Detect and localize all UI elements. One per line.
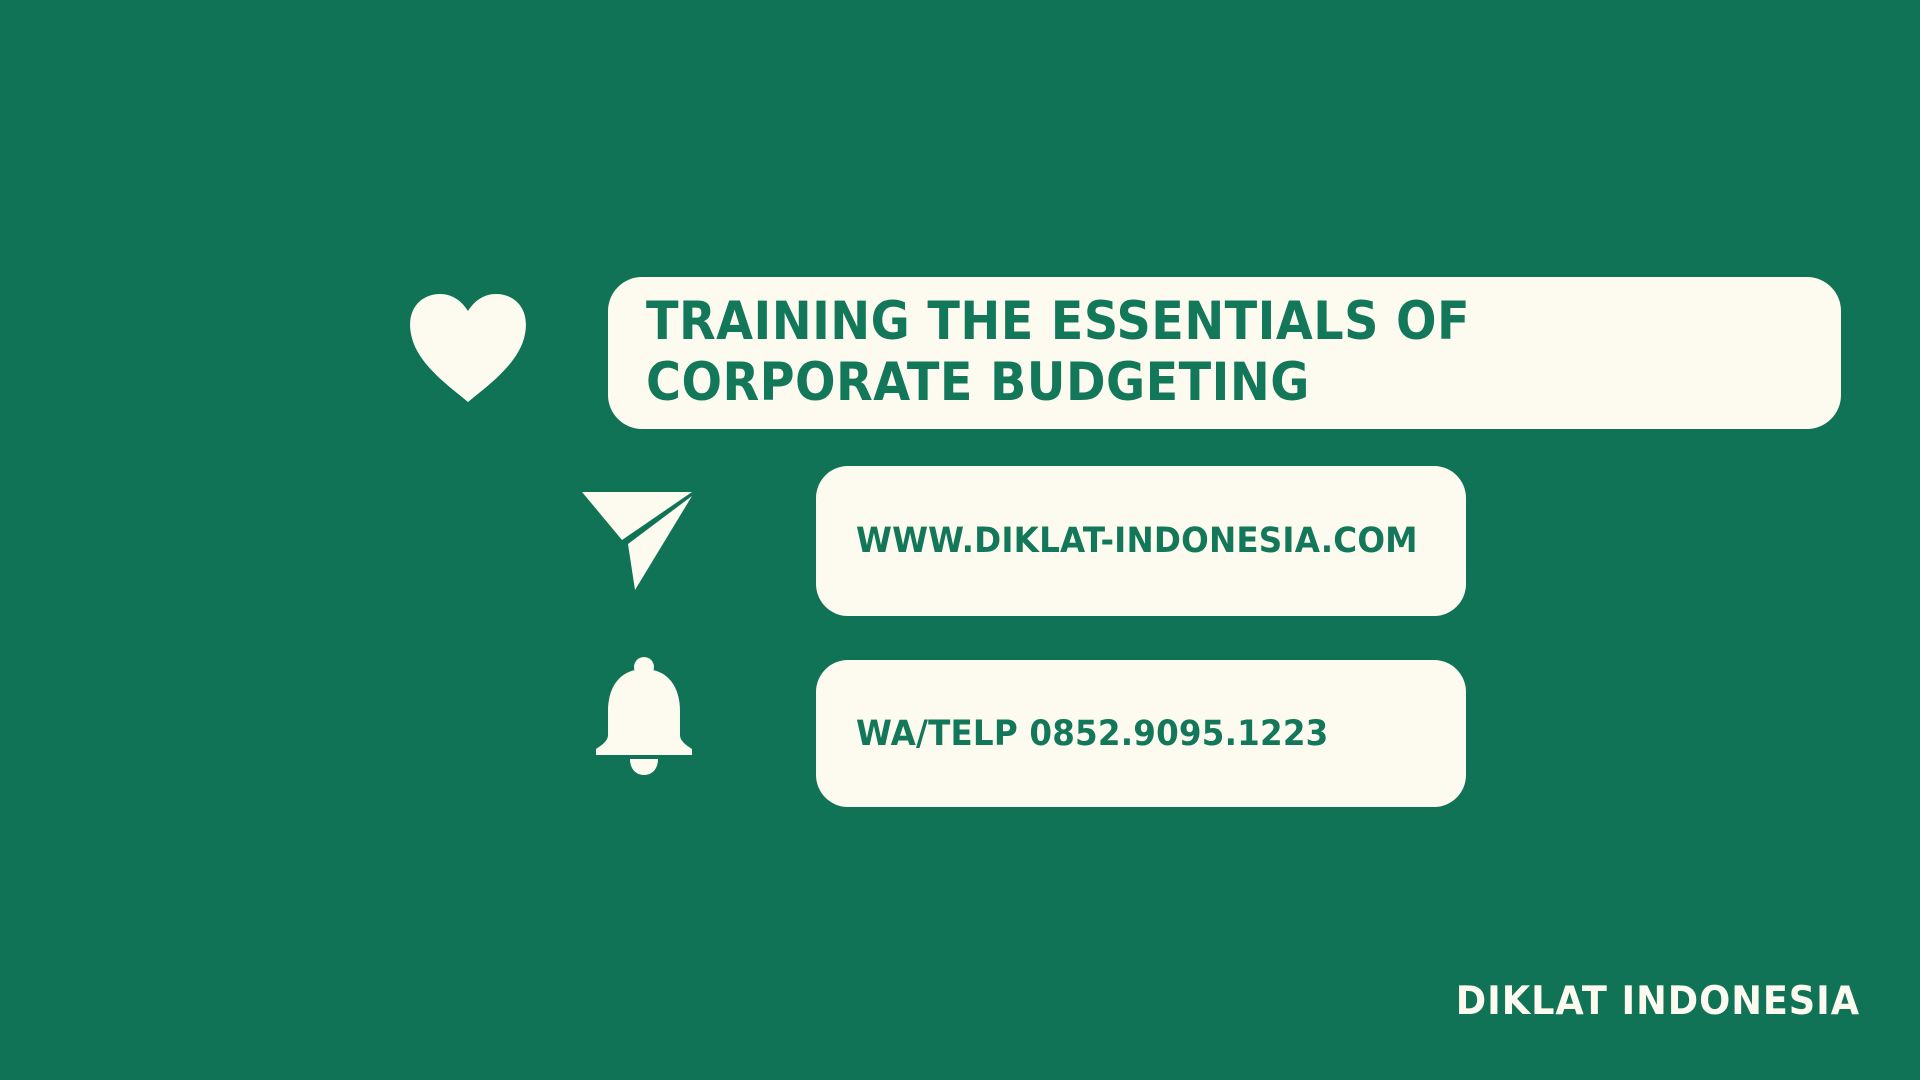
phone-value: WA/Telp 0852.9095.1223 bbox=[856, 714, 1328, 754]
bell-icon bbox=[592, 655, 696, 775]
paper-plane-icon bbox=[578, 482, 698, 594]
website-value: www.diklat-indonesia.com bbox=[856, 521, 1418, 561]
website-card[interactable]: www.diklat-indonesia.com bbox=[816, 466, 1466, 616]
training-title-card: Training The Essentials Of Corporate Bud… bbox=[608, 277, 1841, 429]
brand-name: Diklat Indonesia bbox=[1456, 979, 1860, 1025]
heart-icon bbox=[408, 292, 528, 404]
page-title: Training The Essentials Of Corporate Bud… bbox=[646, 291, 1687, 413]
phone-card[interactable]: WA/Telp 0852.9095.1223 bbox=[816, 660, 1466, 807]
poster-canvas: Training The Essentials Of Corporate Bud… bbox=[0, 0, 1920, 1080]
